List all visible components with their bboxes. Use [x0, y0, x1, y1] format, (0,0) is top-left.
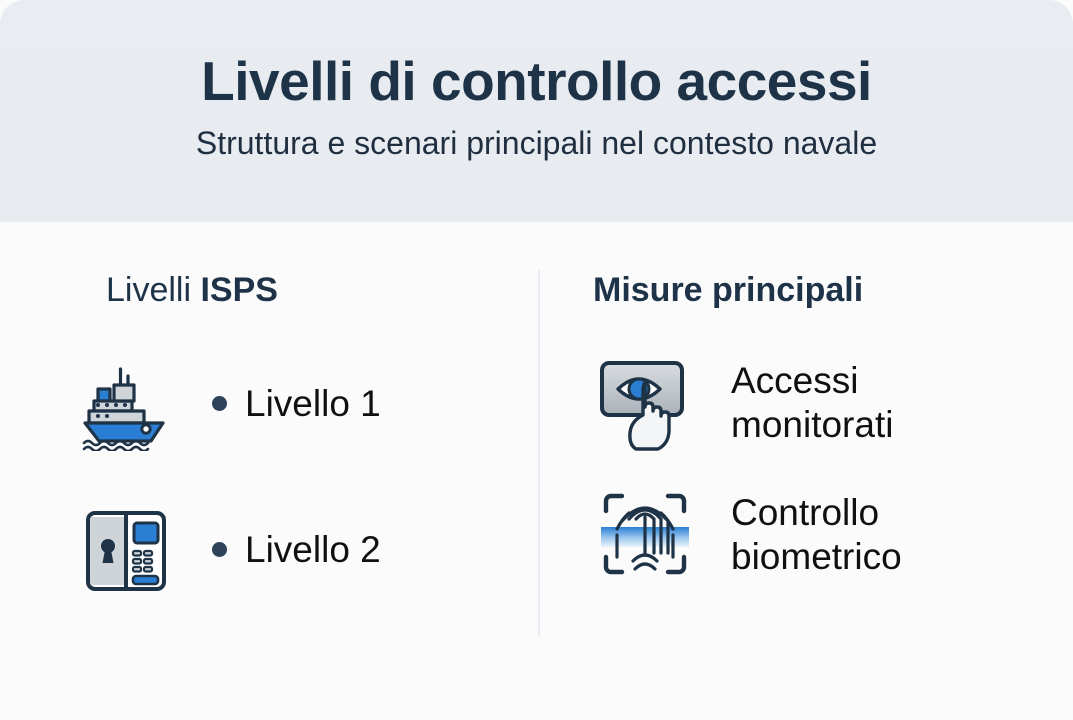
bullet-point: [212, 542, 227, 557]
list-item-content: Livello 1: [212, 383, 381, 424]
list-item: Livello 2: [78, 501, 538, 597]
measure-label: Controllo biometrico: [731, 491, 902, 580]
content-area: Livelli ISPS: [0, 222, 1073, 720]
eye-touchscreen-icon: [593, 355, 697, 451]
page-title: Livelli di controllo accessi: [201, 52, 872, 111]
isps-level-list: Livello 1: [78, 355, 538, 597]
list-item: Livello 1: [78, 355, 538, 451]
measure-label-line1: Controllo: [731, 492, 879, 533]
measure-label-line1: Accessi: [731, 360, 858, 401]
page-subtitle: Struttura e scenari principali nel conte…: [196, 125, 877, 162]
left-column-heading-prefix: Livelli: [106, 271, 200, 309]
right-column-heading: Misure principali: [593, 272, 1073, 309]
left-column-heading-strong: ISPS: [200, 271, 277, 309]
measure-label-line2: monitorati: [731, 403, 893, 447]
list-item-label: Livello 1: [245, 383, 381, 424]
column-isps-levels: Livelli ISPS: [0, 222, 538, 720]
list-item: Accessi monitorati: [593, 355, 1073, 451]
bullet-point: [212, 396, 227, 411]
list-item: Controllo biometrico: [593, 487, 1073, 583]
infographic-poster: Livelli di controllo accessi Struttura e…: [0, 0, 1073, 720]
left-column-heading: Livelli ISPS: [106, 272, 538, 309]
measure-label-line2: biometrico: [731, 535, 902, 579]
fingerprint-scan-icon: [593, 487, 697, 583]
ship-icon: [78, 355, 174, 451]
header-band: Livelli di controllo accessi Struttura e…: [0, 0, 1073, 222]
access-control-panel-icon: [78, 501, 174, 597]
list-item-label: Livello 2: [245, 529, 381, 570]
measure-label: Accessi monitorati: [731, 359, 893, 448]
column-main-measures: Misure principali: [538, 222, 1073, 720]
columns-container: Livelli ISPS: [0, 222, 1073, 720]
measures-list: Accessi monitorati: [593, 355, 1073, 583]
list-item-content: Livello 2: [212, 529, 381, 570]
